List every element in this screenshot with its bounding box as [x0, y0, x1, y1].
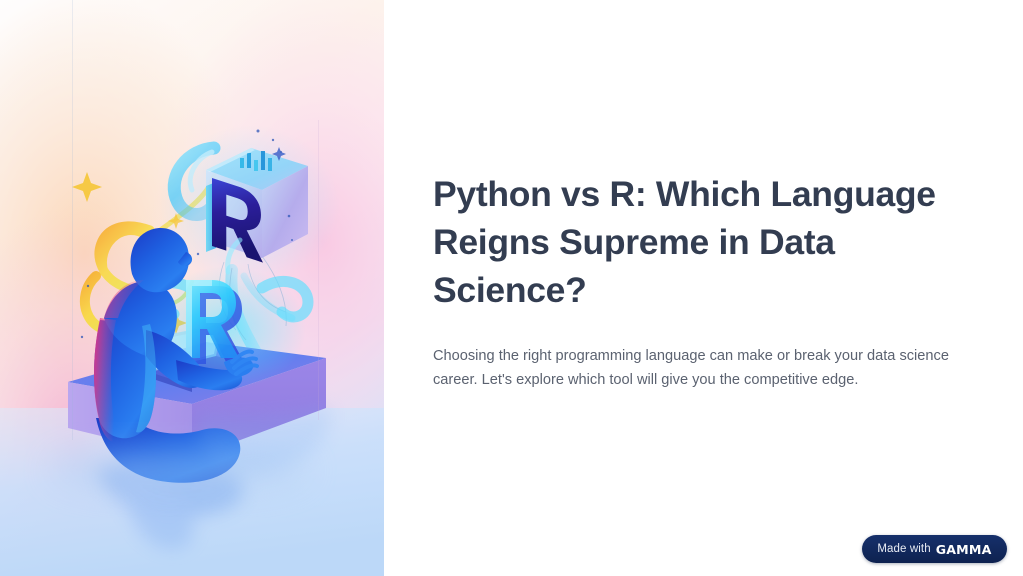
badge-prefix-label: Made with [877, 543, 930, 555]
content-panel: Python vs R: Which Language Reigns Supre… [384, 0, 1023, 576]
slide-root: Python vs R: Which Language Reigns Supre… [0, 0, 1023, 576]
gamma-wordmark: GAMMA [936, 542, 992, 557]
hero-illustration [0, 0, 384, 576]
page-subtitle: Choosing the right programming language … [433, 345, 968, 392]
made-with-gamma-badge[interactable]: Made with GAMMA [862, 535, 1007, 563]
text-block: Python vs R: Which Language Reigns Supre… [433, 170, 953, 392]
illustration-artwork [0, 0, 384, 576]
page-title: Python vs R: Which Language Reigns Supre… [433, 170, 953, 314]
